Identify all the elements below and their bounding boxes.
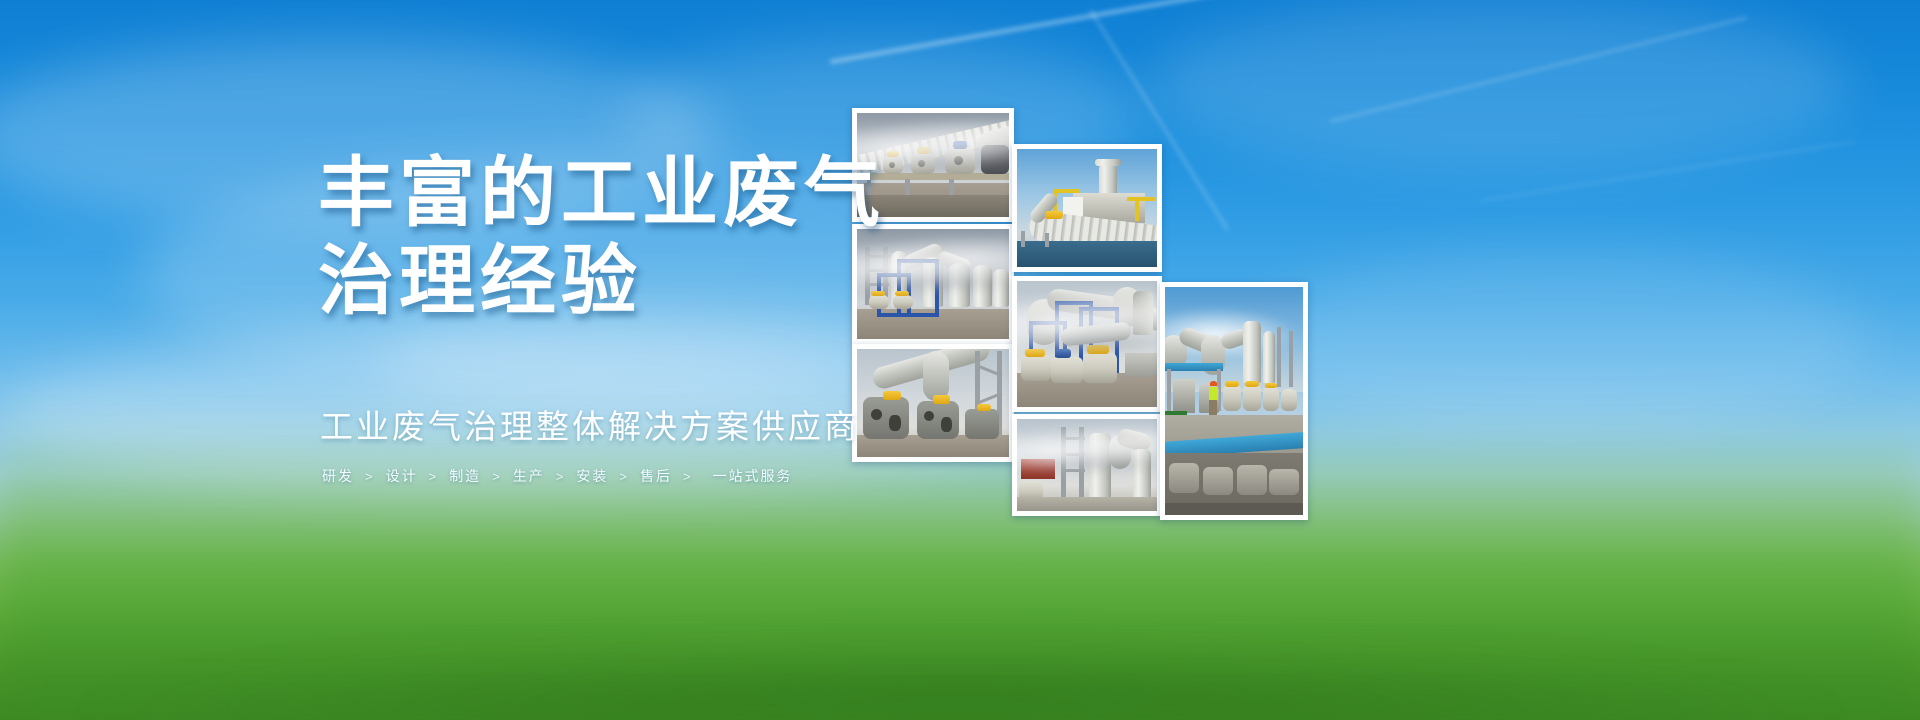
- breadcrumb-step-6: 售后: [640, 466, 672, 486]
- breadcrumb-separator-icon: >: [556, 469, 566, 484]
- page-title-line1: 丰富的工业废气: [318, 150, 1018, 238]
- gallery-photo-2[interactable]: [1012, 144, 1162, 272]
- process-breadcrumb: 研发 > 设计 > 制造 > 生产 > 安装 > 售后 > 一站式服务: [322, 466, 1018, 486]
- breadcrumb-separator-icon: >: [429, 469, 439, 484]
- breadcrumb-step-4: 生产: [513, 466, 545, 486]
- breadcrumb-step-1: 研发: [322, 466, 354, 486]
- breadcrumb-separator-icon: >: [365, 469, 375, 484]
- gallery-photo-6[interactable]: [1012, 414, 1162, 516]
- gallery-photo-4[interactable]: [1012, 276, 1162, 412]
- breadcrumb-step-5: 安装: [576, 466, 608, 486]
- breadcrumb-final-step: 一站式服务: [713, 466, 793, 486]
- breadcrumb-separator-icon: >: [683, 469, 693, 484]
- hero-subtitle: 工业废气治理整体解决方案供应商: [320, 400, 1018, 448]
- breadcrumb-separator-icon: >: [619, 469, 629, 484]
- breadcrumb-separator-icon: >: [492, 469, 502, 484]
- gallery-photo-7[interactable]: [1160, 282, 1308, 520]
- hero-copy: 丰富的工业废气 治理经验 工业废气治理整体解决方案供应商 研发 > 设计 > 制…: [318, 150, 1018, 486]
- page-title-line2: 治理经验: [318, 238, 1018, 326]
- hero-banner: 丰富的工业废气 治理经验 工业废气治理整体解决方案供应商 研发 > 设计 > 制…: [0, 0, 1920, 720]
- breadcrumb-step-2: 设计: [386, 466, 418, 486]
- breadcrumb-step-3: 制造: [449, 466, 481, 486]
